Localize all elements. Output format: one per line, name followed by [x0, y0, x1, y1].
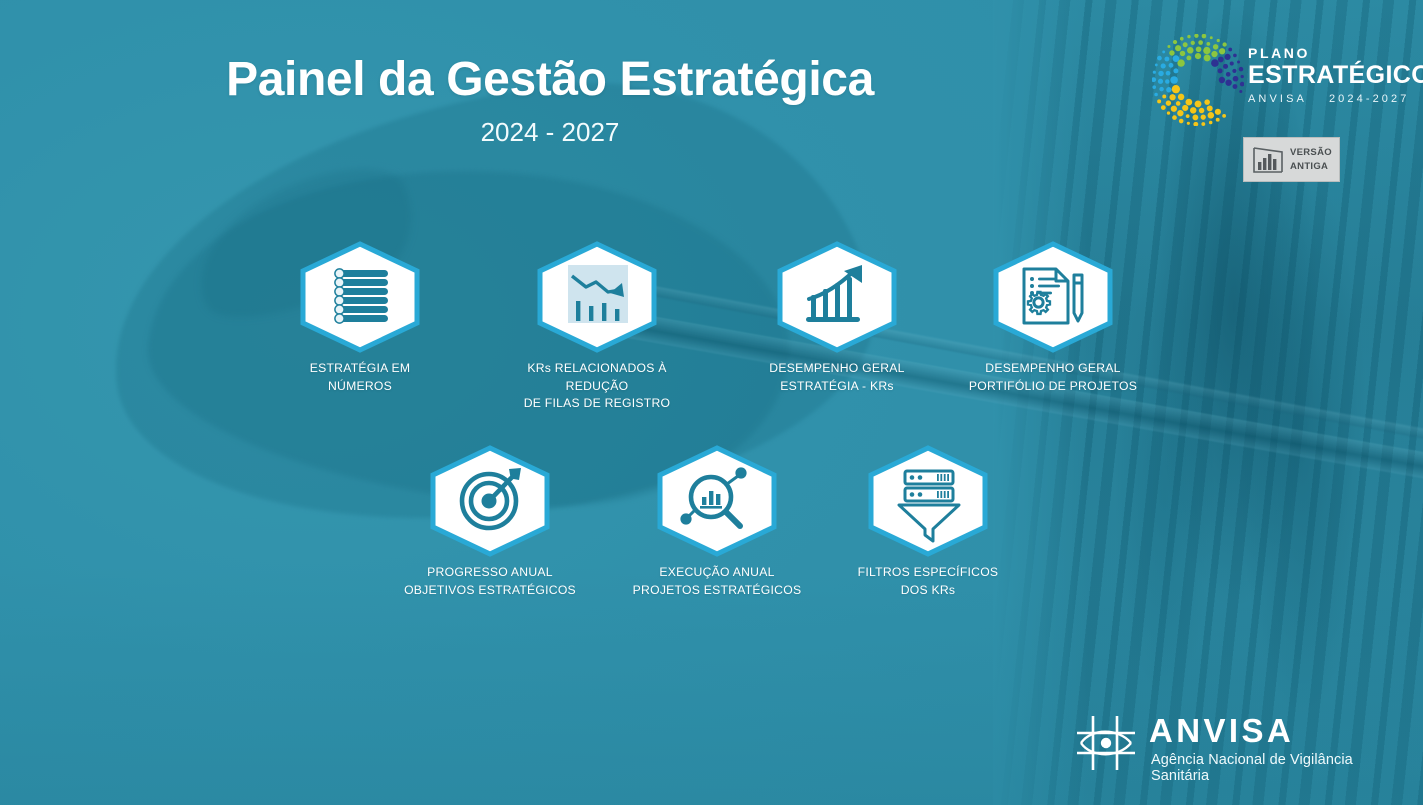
plano-estrategico-logo-text: PLANO ESTRATÉGICO ANVISA2024-2027	[1248, 46, 1423, 105]
nav-tile-label-desempenho-geral-estrategia-krs: DESEMPENHO GERAL ESTRATÉGIA - KRs	[742, 360, 932, 395]
hexagon-estrategia-em-numeros[interactable]	[300, 243, 420, 351]
page-subtitle: 2024 - 2027	[0, 117, 1100, 148]
nav-tile-label-execucao-anual-projetos: EXECUÇÃO ANUAL PROJETOS ESTRATÉGICOS	[622, 564, 812, 599]
nav-tile-progresso-anual-objetivos[interactable]: PROGRESSO ANUAL OBJETIVOS ESTRATÉGICOS	[395, 447, 585, 599]
plano-estrategico-logo: PLANO ESTRATÉGICO ANVISA2024-2027	[1152, 32, 1392, 126]
hexagon-desempenho-geral-portifolio-projetos[interactable]	[993, 243, 1113, 351]
target-arrow-icon	[430, 447, 550, 555]
list-rows-icon	[300, 243, 420, 351]
old-version-button-label: VERSÃO ANTIGA	[1290, 146, 1332, 174]
logo-years: 2024-2027	[1329, 93, 1410, 105]
hexagon-filtros-especificos-krs[interactable]	[868, 447, 988, 555]
nav-tile-label-krs-reducao-filas-registro: KRs RELACIONADOS À REDUÇÃO DE FILAS DE R…	[502, 360, 692, 413]
old-version-line1: VERSÃO	[1290, 146, 1332, 160]
declining-line-chart-icon	[537, 243, 657, 351]
logo-line-org-years: ANVISA2024-2027	[1248, 93, 1423, 105]
power-bi-bar-chart-icon	[1251, 145, 1285, 175]
nav-tile-estrategia-em-numeros[interactable]: ESTRATÉGIA EM NÚMEROS	[265, 243, 455, 395]
page-title: Painel da Gestão Estratégica	[0, 52, 1100, 107]
nav-tile-desempenho-geral-estrategia-krs[interactable]: DESEMPENHO GERAL ESTRATÉGIA - KRs	[742, 243, 932, 395]
server-funnel-filter-icon	[868, 447, 988, 555]
page-header: Painel da Gestão Estratégica 2024 - 2027	[0, 52, 1100, 148]
magnifier-chart-icon	[657, 447, 777, 555]
nav-tile-label-desempenho-geral-portifolio-projetos: DESEMPENHO GERAL PORTIFÓLIO DE PROJETOS	[958, 360, 1148, 395]
rising-arrow-bars-icon	[777, 243, 897, 351]
anvisa-tagline: Agência Nacional de Vigilância Sanitária	[1151, 752, 1393, 784]
old-version-line2: ANTIGA	[1290, 160, 1332, 174]
anvisa-brand: ANVISA	[1149, 714, 1294, 747]
nav-tile-krs-reducao-filas-registro[interactable]: KRs RELACIONADOS À REDUÇÃO DE FILAS DE R…	[502, 243, 692, 413]
document-gear-pencil-icon	[993, 243, 1113, 351]
old-version-button[interactable]: VERSÃO ANTIGA	[1243, 137, 1340, 182]
nav-tile-execucao-anual-projetos[interactable]: EXECUÇÃO ANUAL PROJETOS ESTRATÉGICOS	[622, 447, 812, 599]
logo-line-plano: PLANO	[1248, 46, 1423, 60]
nav-tile-label-estrategia-em-numeros: ESTRATÉGIA EM NÚMEROS	[265, 360, 455, 395]
nav-tile-label-progresso-anual-objetivos: PROGRESSO ANUAL OBJETIVOS ESTRATÉGICOS	[395, 564, 585, 599]
hexagon-progresso-anual-objetivos[interactable]	[430, 447, 550, 555]
anvisa-symbol-icon	[1073, 712, 1139, 774]
hexagon-execucao-anual-projetos[interactable]	[657, 447, 777, 555]
nav-tile-filtros-especificos-krs[interactable]: FILTROS ESPECÍFICOS DOS KRs	[833, 447, 1023, 599]
hexagon-desempenho-geral-estrategia-krs[interactable]	[777, 243, 897, 351]
hexagon-krs-reducao-filas-registro[interactable]	[537, 243, 657, 351]
logo-org: ANVISA	[1248, 93, 1307, 105]
anvisa-logo: ANVISA Agência Nacional de Vigilância Sa…	[1073, 708, 1393, 780]
nav-tile-desempenho-geral-portifolio-projetos[interactable]: DESEMPENHO GERAL PORTIFÓLIO DE PROJETOS	[958, 243, 1148, 395]
dotted-ring-logo-icon	[1152, 34, 1244, 126]
nav-tile-label-filtros-especificos-krs: FILTROS ESPECÍFICOS DOS KRs	[833, 564, 1023, 599]
logo-line-estrategico: ESTRATÉGICO	[1248, 62, 1423, 89]
